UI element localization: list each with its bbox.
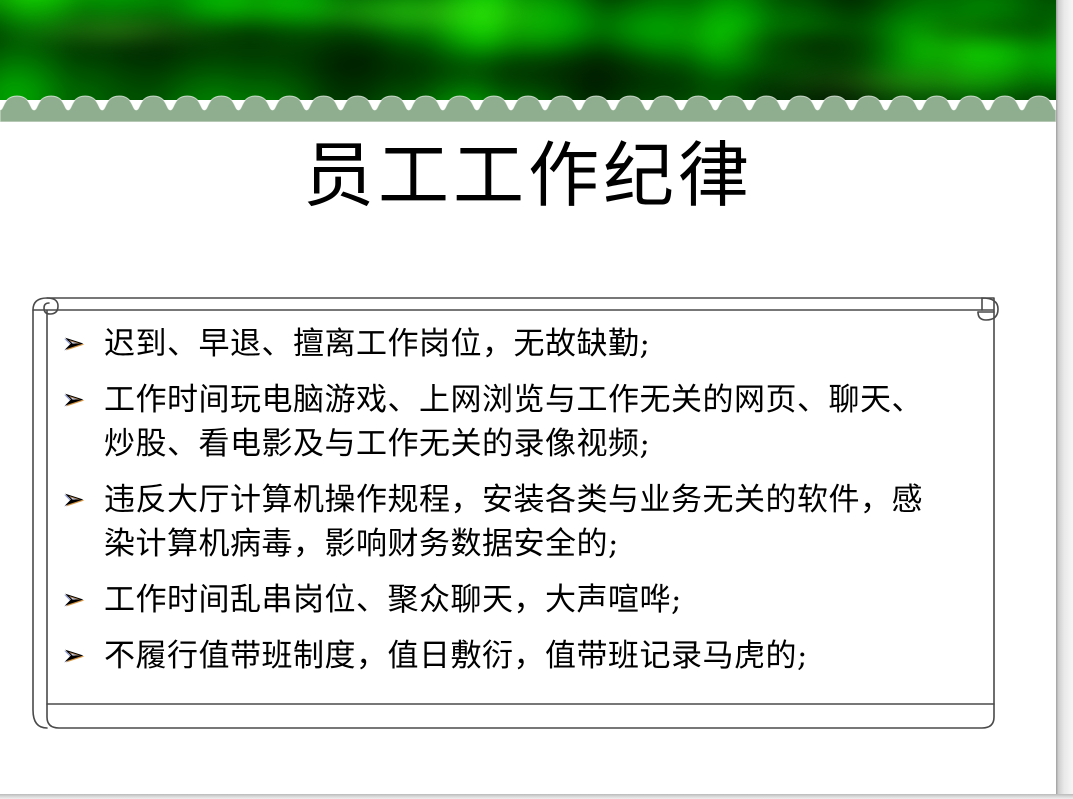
list-item: ➢ 违反大厅计算机操作规程，安装各类与业务无关的软件，感 染计算机病毒，影响财务… [54, 478, 1014, 566]
list-item: ➢ 迟到、早退、擅离工作岗位，无故缺勤; [54, 322, 1014, 366]
list-item-line: 工作时间乱串岗位、聚众聊天，大声喧哗; [104, 578, 1014, 622]
slide-right-edge-shadow [1056, 0, 1073, 799]
header-image-band [0, 0, 1056, 100]
arrow-bullet-icon: ➢ [54, 322, 104, 366]
list-item-line: 染计算机病毒，影响财务数据安全的; [104, 522, 1014, 566]
grass-highlight-overlay [0, 0, 1056, 100]
list-item: ➢ 工作时间玩电脑游戏、上网浏览与工作无关的网页、聊天、 炒股、看电影及与工作无… [54, 378, 1014, 466]
discipline-rules-list: ➢ 迟到、早退、擅离工作岗位，无故缺勤; ➢ 工作时间玩电脑游戏、上网浏览与工作… [54, 322, 1014, 678]
slide-canvas: 员工工作纪律 ➢ 迟到、早退、擅离工作岗位，无故缺勤; [0, 0, 1073, 799]
frame-curl-top-right [978, 298, 998, 320]
list-item-line: 炒股、看电影及与工作无关的录像视频; [104, 422, 1014, 466]
frame-left-roll [33, 310, 47, 728]
list-item-line: 工作时间玩电脑游戏、上网浏览与工作无关的网页、聊天、 [104, 378, 1014, 422]
list-item-line: 不履行值带班制度，值日敷衍，值带班记录马虎的; [104, 634, 1014, 678]
list-item-text: 工作时间玩电脑游戏、上网浏览与工作无关的网页、聊天、 炒股、看电影及与工作无关的… [104, 378, 1014, 466]
list-item-text: 工作时间乱串岗位、聚众聊天，大声喧哗; [104, 578, 1014, 622]
slide-title: 员工工作纪律 [0, 133, 1056, 219]
list-item: ➢ 工作时间乱串岗位、聚众聊天，大声喧哗; [54, 578, 1014, 622]
arrow-bullet-icon: ➢ [54, 578, 104, 622]
scallop-teeth [0, 96, 1056, 122]
list-item-text: 不履行值带班制度，值日敷衍，值带班记录马虎的; [104, 634, 1014, 678]
list-item-text: 违反大厅计算机操作规程，安装各类与业务无关的软件，感 染计算机病毒，影响财务数据… [104, 478, 1014, 566]
arrow-bullet-icon: ➢ [54, 378, 104, 422]
frame-curl-top-left [44, 298, 58, 314]
arrow-bullet-icon: ➢ [54, 478, 104, 522]
slide-bottom-edge-shadow [0, 794, 1073, 799]
arrow-bullet-icon: ➢ [54, 634, 104, 678]
list-item: ➢ 不履行值带班制度，值日敷衍，值带班记录马虎的; [54, 634, 1014, 678]
scallop-path [0, 96, 1056, 122]
list-item-line: 违反大厅计算机操作规程，安装各类与业务无关的软件，感 [104, 478, 1014, 522]
scalloped-divider [0, 90, 1056, 122]
list-item-text: 迟到、早退、擅离工作岗位，无故缺勤; [104, 322, 1014, 366]
list-item-line: 迟到、早退、擅离工作岗位，无故缺勤; [104, 322, 1014, 366]
